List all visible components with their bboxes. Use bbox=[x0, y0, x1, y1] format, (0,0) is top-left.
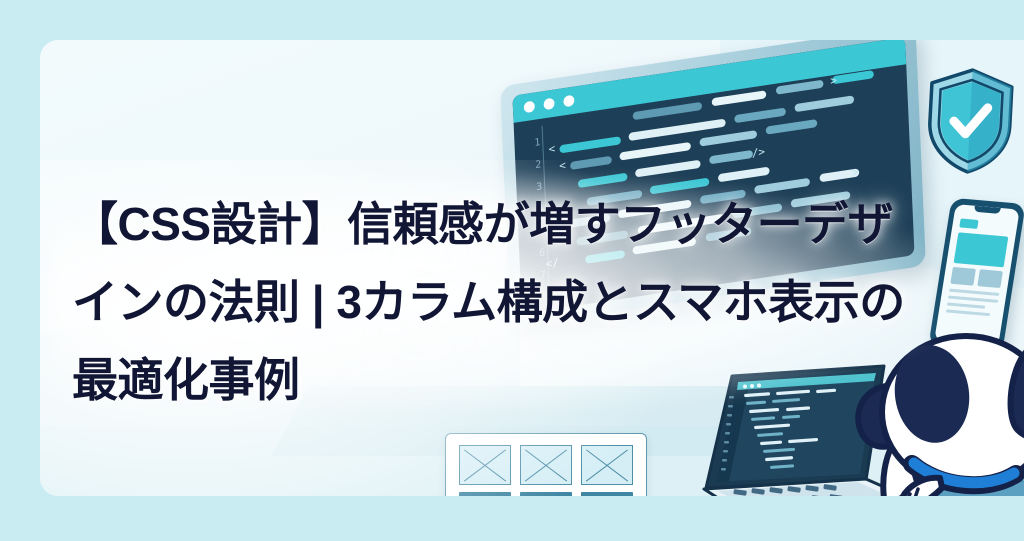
banner-stage: 1 2 3 4 5 6 7 bbox=[0, 0, 1024, 541]
three-column-wireframe bbox=[445, 433, 647, 496]
wireframe-image-placeholder bbox=[459, 445, 511, 485]
line-number: 2 bbox=[523, 154, 542, 179]
window-dot-icon bbox=[524, 101, 535, 114]
shield-check-badge bbox=[921, 64, 1019, 179]
wireframe-image-placeholder bbox=[581, 445, 633, 485]
wireframe-column bbox=[520, 445, 572, 496]
window-dot-icon bbox=[543, 98, 554, 111]
wireframe-column bbox=[581, 445, 633, 496]
wireframe-heading-bar bbox=[459, 492, 511, 496]
banner-card: 1 2 3 4 5 6 7 bbox=[40, 40, 1024, 496]
line-number: 1 bbox=[522, 132, 541, 157]
phone-text-line bbox=[947, 302, 985, 308]
wireframe-heading-bar bbox=[520, 492, 572, 496]
page-title: 【CSS設計】信頼感が増すフッターデザインの法則 | 3カラム構成とスマホ表示の… bbox=[72, 185, 932, 419]
wireframe-column bbox=[459, 445, 511, 496]
phone-card-block bbox=[977, 269, 1003, 288]
phone-hero-block bbox=[954, 232, 1009, 267]
wireframe-image-placeholder bbox=[520, 445, 572, 485]
phone-text-line bbox=[948, 296, 998, 303]
phone-logo-block bbox=[959, 218, 978, 228]
wireframe-heading-bar bbox=[581, 492, 633, 496]
window-dot-icon bbox=[563, 95, 574, 108]
phone-text-line bbox=[949, 289, 999, 296]
phone-card-block bbox=[950, 267, 976, 286]
phone-notch bbox=[974, 206, 1001, 214]
